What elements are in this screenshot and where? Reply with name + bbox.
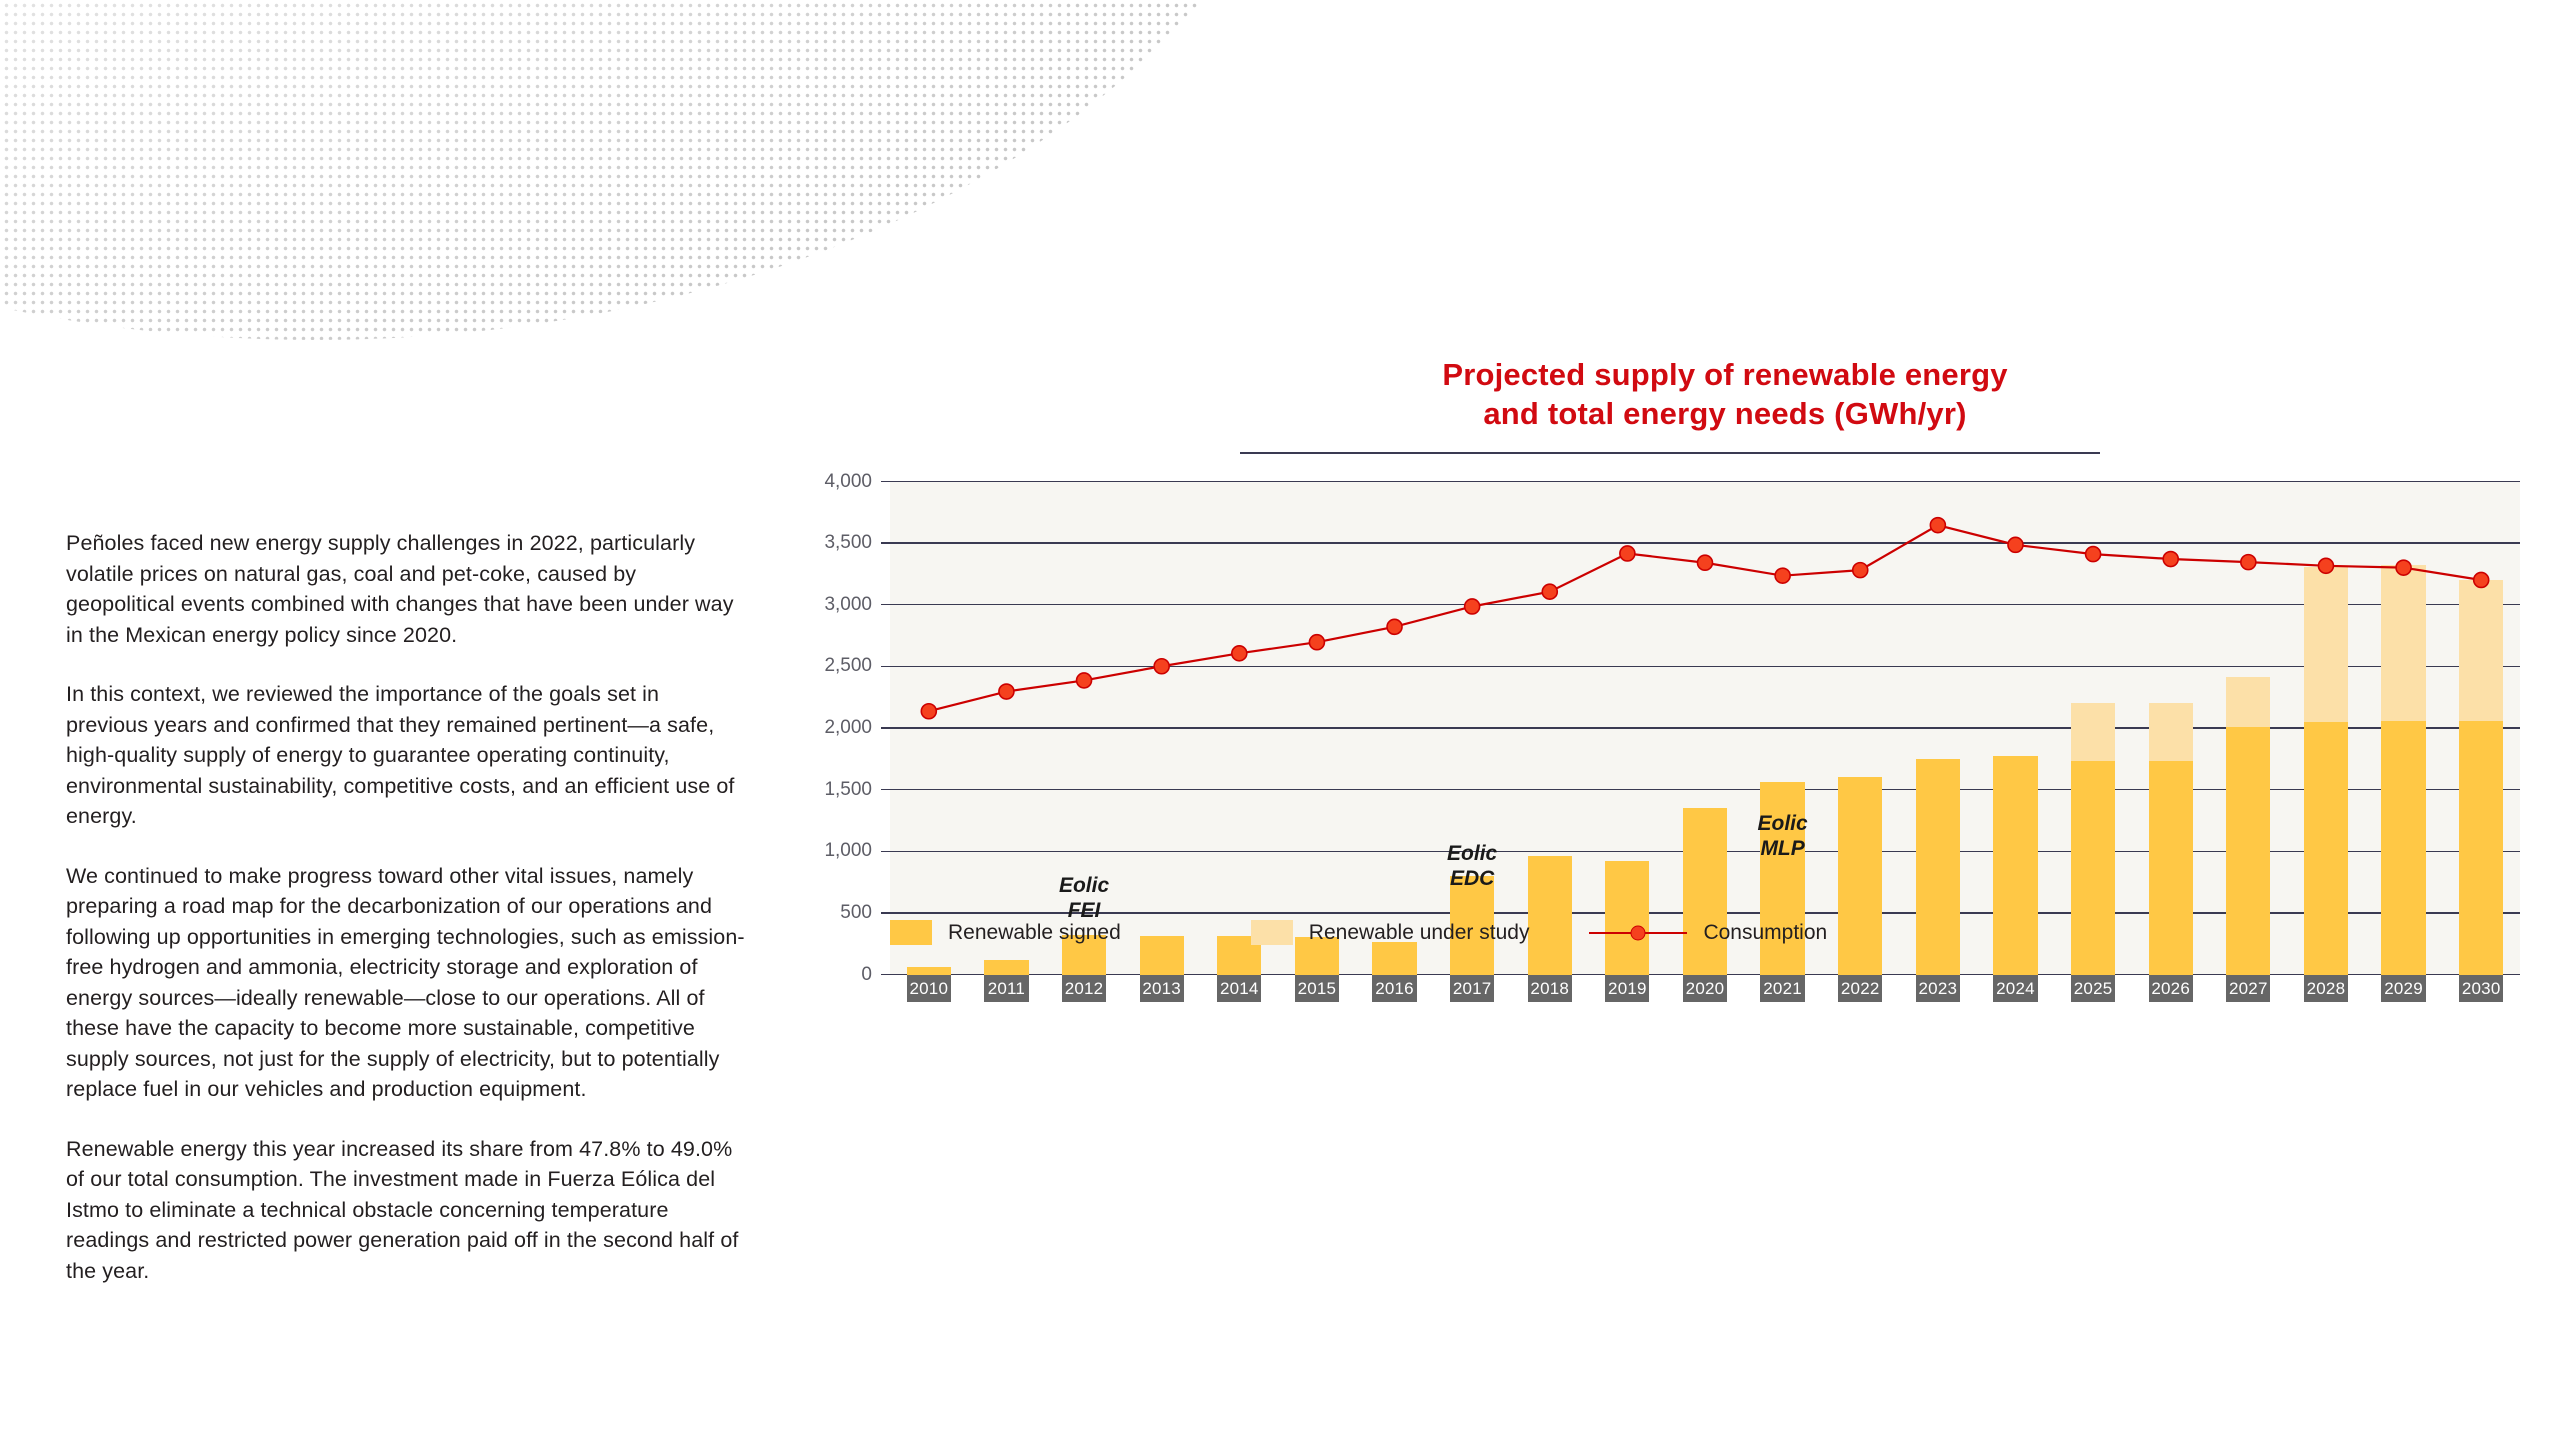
- x-axis-year-label: 2025: [2071, 975, 2115, 1002]
- consumption-data-point[interactable]: [1542, 584, 1557, 599]
- consumption-data-point[interactable]: [2086, 546, 2101, 561]
- y-tick-mark: [881, 481, 890, 482]
- x-axis-year-label: 2021: [1760, 975, 1804, 1002]
- y-tick-mark: [881, 604, 890, 605]
- consumption-data-point[interactable]: [2318, 558, 2333, 573]
- y-axis-tick-label: 1,000: [824, 840, 872, 862]
- plot-annotation-mlp: Eolic MLP: [1713, 811, 1853, 861]
- consumption-data-point[interactable]: [1465, 598, 1480, 613]
- x-axis-year-label: 2010: [907, 975, 951, 1002]
- consumption-data-point[interactable]: [1309, 634, 1324, 649]
- x-axis-year-label: 2014: [1217, 975, 1261, 1002]
- legend-color-swatch: [1251, 920, 1293, 945]
- consumption-data-point[interactable]: [1232, 645, 1247, 660]
- plot-annotation-fei: Eolic FEI: [1014, 873, 1154, 923]
- legend-label: Renewable under study: [1309, 921, 1530, 945]
- x-axis-year-label: 2030: [2459, 975, 2503, 1002]
- y-tick-mark: [881, 789, 890, 790]
- y-tick-mark: [881, 974, 890, 975]
- chart-title: Projected supply of renewable energy and…: [800, 355, 2520, 433]
- y-tick-mark: [881, 912, 890, 913]
- y-tick-mark: [881, 851, 890, 852]
- consumption-data-point[interactable]: [2163, 551, 2178, 566]
- halftone-arc-decoration: [0, 0, 1330, 340]
- consumption-data-point[interactable]: [921, 703, 936, 718]
- legend-item-consumption[interactable]: Consumption: [1589, 921, 1827, 945]
- consumption-data-point[interactable]: [2008, 537, 2023, 552]
- consumption-data-point[interactable]: [1853, 562, 1868, 577]
- article-paragraph: In this context, we reviewed the importa…: [66, 679, 746, 832]
- x-axis-year-label: 2029: [2381, 975, 2425, 1002]
- consumption-data-point[interactable]: [1387, 619, 1402, 634]
- x-axis-year-label: 2024: [1993, 975, 2037, 1002]
- x-axis-year-label: 2017: [1450, 975, 1494, 1002]
- chart-title-line-2: and total energy needs (GWh/yr): [930, 394, 2520, 433]
- consumption-data-point[interactable]: [999, 684, 1014, 699]
- legend-label: Renewable signed: [948, 921, 1121, 945]
- y-tick-mark: [881, 542, 890, 543]
- x-axis: 2010201120122013201420152016201720182019…: [890, 975, 2520, 1005]
- y-axis-tick-label: 3,000: [824, 594, 872, 616]
- chart-title-divider: [1240, 452, 2100, 454]
- legend-item-renewable-signed[interactable]: Renewable signed: [890, 920, 1121, 945]
- y-tick-mark: [881, 666, 890, 667]
- legend-item-renewable-under-study[interactable]: Renewable under study: [1251, 920, 1530, 945]
- y-axis-tick-label: 3,500: [824, 532, 872, 554]
- x-axis-year-label: 2013: [1140, 975, 1184, 1002]
- x-axis-year-label: 2012: [1062, 975, 1106, 1002]
- legend-color-swatch: [890, 920, 932, 945]
- chart-legend: Renewable signedRenewable under studyCon…: [890, 920, 1827, 945]
- article-paragraph: We continued to make progress toward oth…: [66, 861, 746, 1105]
- x-axis-year-label: 2027: [2226, 975, 2270, 1002]
- y-axis-tick-label: 1,500: [824, 779, 872, 801]
- y-axis-tick-label: 4,000: [824, 471, 872, 493]
- x-axis-year-label: 2028: [2304, 975, 2348, 1002]
- plot-annotation-edc: Eolic EDC: [1402, 841, 1542, 891]
- consumption-data-point[interactable]: [1154, 658, 1169, 673]
- consumption-data-point[interactable]: [2241, 554, 2256, 569]
- y-tick-mark: [881, 727, 890, 728]
- x-axis-year-label: 2015: [1295, 975, 1339, 1002]
- x-axis-year-label: 2018: [1528, 975, 1572, 1002]
- y-axis-tick-label: 0: [861, 964, 872, 986]
- x-axis-year-label: 2016: [1372, 975, 1416, 1002]
- consumption-line-path: [929, 525, 2481, 711]
- consumption-data-point[interactable]: [2396, 560, 2411, 575]
- chart-title-line-1: Projected supply of renewable energy: [930, 355, 2520, 394]
- x-axis-year-label: 2023: [1916, 975, 1960, 1002]
- y-axis-tick-label: 2,500: [824, 655, 872, 677]
- x-axis-year-label: 2022: [1838, 975, 1882, 1002]
- x-axis-year-label: 2026: [2149, 975, 2193, 1002]
- plot-area: Eolic FEIEolic EDCEolic MLP: [890, 482, 2520, 975]
- y-axis-tick-label: 500: [840, 902, 872, 924]
- consumption-data-point[interactable]: [1620, 545, 1635, 560]
- legend-label: Consumption: [1703, 921, 1827, 945]
- y-axis: 4,0003,5003,0002,5002,0001,5001,0005000: [800, 482, 884, 975]
- consumption-data-point[interactable]: [2474, 572, 2489, 587]
- y-axis-tick-label: 2,000: [824, 717, 872, 739]
- consumption-data-point[interactable]: [1775, 568, 1790, 583]
- x-axis-year-label: 2019: [1605, 975, 1649, 1002]
- article-body: Peñoles faced new energy supply challeng…: [66, 528, 746, 1286]
- article-paragraph: Renewable energy this year increased its…: [66, 1134, 746, 1287]
- consumption-data-point[interactable]: [1698, 555, 1713, 570]
- legend-line-marker-icon: [1589, 922, 1687, 944]
- x-axis-year-label: 2011: [984, 975, 1028, 1002]
- chart-panel: Projected supply of renewable energy and…: [800, 355, 2520, 1145]
- consumption-data-point[interactable]: [1077, 672, 1092, 687]
- consumption-data-point[interactable]: [1930, 517, 1945, 532]
- article-paragraph: Peñoles faced new energy supply challeng…: [66, 528, 746, 650]
- x-axis-year-label: 2020: [1683, 975, 1727, 1002]
